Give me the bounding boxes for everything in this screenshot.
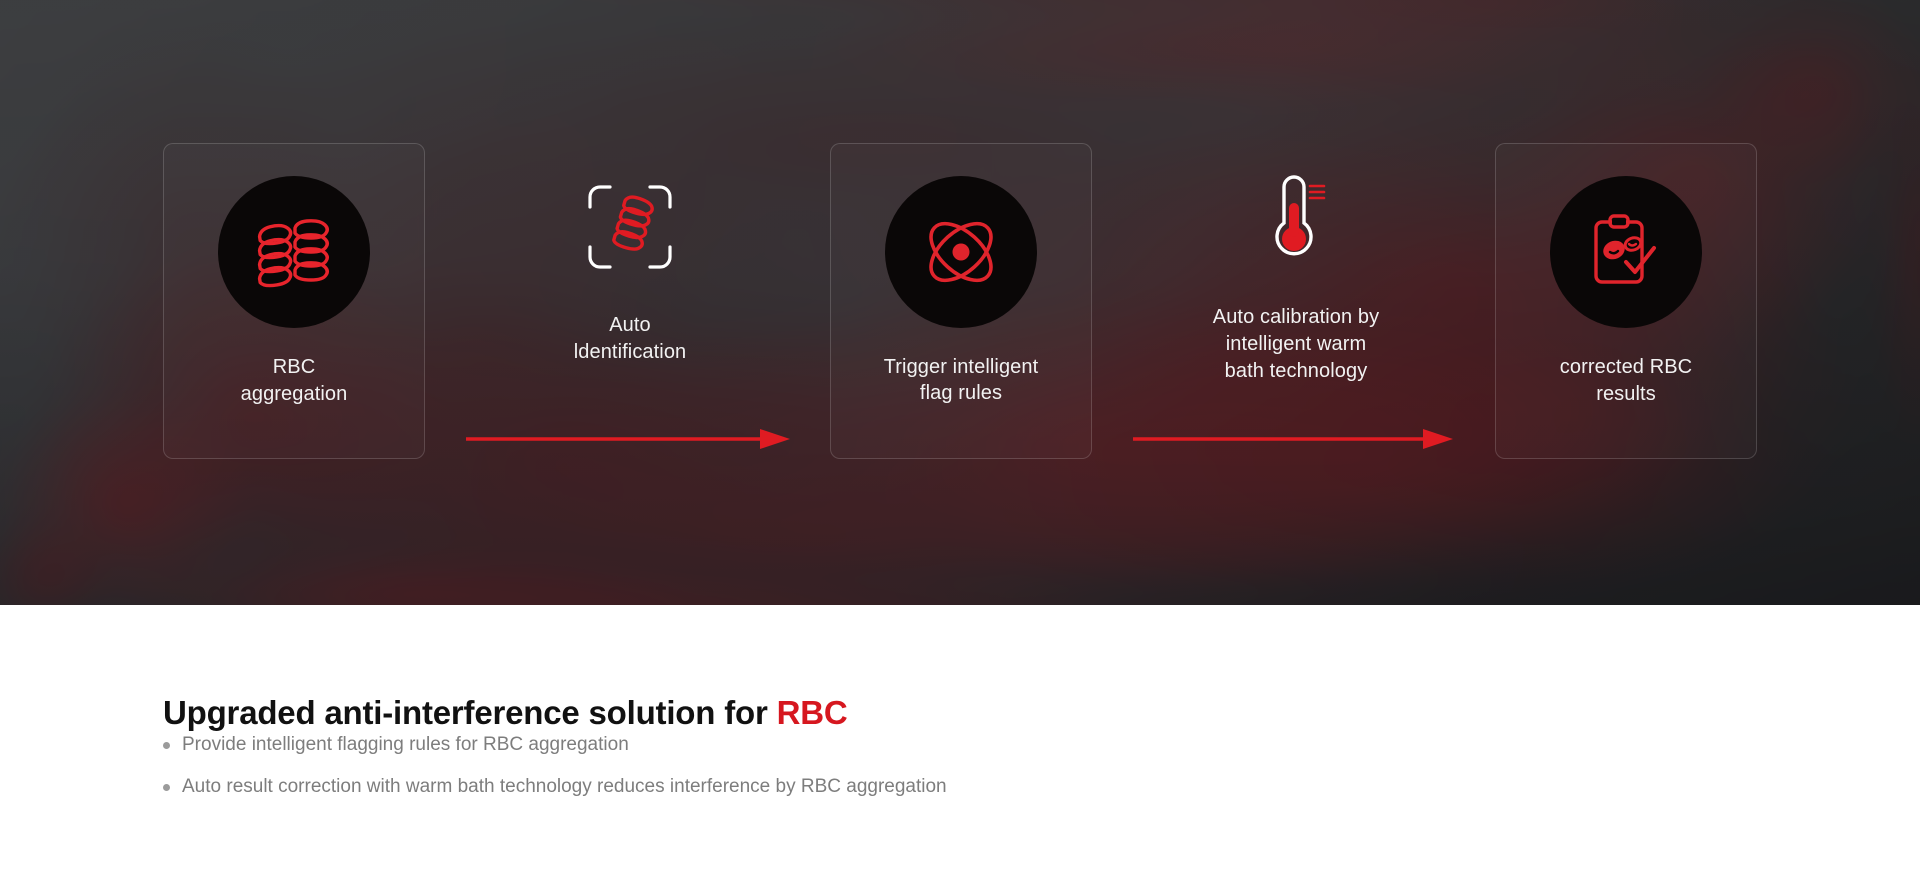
- icon-disc: [1550, 176, 1702, 328]
- flow-step-card-rbc-aggregation[interactable]: RBC aggregation: [163, 143, 425, 459]
- caption-line-2: ldentification: [574, 341, 687, 363]
- rbc-cells: [1600, 236, 1642, 263]
- flow-step-caption: Trigger intelligent flag rules: [842, 354, 1080, 406]
- hero-section: RBC aggregation: [0, 0, 1920, 605]
- thermometer-warm-bath-icon: [1254, 165, 1338, 269]
- flow-step-auto-calibration[interactable]: Auto calibration by intelligent warm bat…: [1165, 143, 1427, 459]
- icon-disc: [885, 176, 1037, 328]
- list-item: Auto result correction with warm bath te…: [163, 775, 947, 799]
- list-item: Provide intelligent flagging rules for R…: [163, 733, 947, 757]
- flow-step-caption: Auto calibration by intelligent warm bat…: [1177, 304, 1415, 385]
- caption-line-1: Auto calibration by: [1213, 306, 1379, 328]
- flow-step-auto-identification[interactable]: Auto ldentification: [499, 143, 761, 459]
- content-section: Upgraded anti-interference solution for …: [0, 605, 1920, 874]
- flow-arrow-1: [466, 428, 790, 450]
- thermometer-stem: [1289, 203, 1299, 237]
- flow-step-caption: RBC aggregation: [175, 354, 413, 408]
- feature-bullet-list: Provide intelligent flagging rules for R…: [163, 733, 947, 817]
- auto-identification-scan-icon: [584, 181, 676, 273]
- caption-line-2: aggregation: [241, 383, 348, 405]
- list-item-label: Auto result correction with warm bath te…: [182, 775, 947, 799]
- heat-tick-marks: [1310, 186, 1324, 198]
- icon-wrapper: [584, 181, 676, 278]
- headline-accent-text: RBC: [777, 694, 848, 731]
- caption-line-2: flag rules: [920, 382, 1002, 404]
- caption-line-1: Trigger intelligent: [884, 356, 1039, 378]
- caption-line-1: corrected RBC: [1560, 356, 1692, 378]
- rbc-aggregation-stack-icon: [246, 204, 342, 300]
- flow-step-caption: corrected RBC results: [1507, 354, 1745, 408]
- list-item-label: Provide intelligent flagging rules for R…: [182, 733, 629, 757]
- headline-main-text: Upgraded anti-interference solution for: [163, 694, 777, 731]
- caption-line-2: intelligent warm: [1226, 333, 1367, 355]
- page-title: Upgraded anti-interference solution for …: [163, 694, 847, 732]
- caption-line-2: results: [1596, 383, 1656, 405]
- page-root: RBC aggregation: [0, 0, 1920, 874]
- arrow-right-icon: [1133, 428, 1453, 450]
- process-flow: RBC aggregation: [0, 0, 1920, 605]
- bullet-dot-icon: [163, 784, 170, 791]
- atom-trigger-icon: [912, 203, 1010, 301]
- caption-line-1: RBC: [273, 356, 316, 378]
- caption-line-3: bath technology: [1225, 360, 1368, 382]
- icon-wrapper: [1254, 165, 1338, 274]
- clipboard-corrected-results-icon: [1578, 204, 1674, 300]
- arrow-right-icon: [466, 428, 790, 450]
- flow-arrow-2: [1133, 428, 1453, 450]
- icon-disc: [218, 176, 370, 328]
- bullet-dot-icon: [163, 742, 170, 749]
- atom-nucleus: [953, 244, 970, 261]
- caption-line-1: Auto: [609, 314, 651, 336]
- flow-step-card-trigger-flag-rules[interactable]: Trigger intelligent flag rules: [830, 143, 1092, 459]
- flow-step-caption: Auto ldentification: [511, 312, 749, 366]
- flow-step-card-corrected-results[interactable]: corrected RBC results: [1495, 143, 1757, 459]
